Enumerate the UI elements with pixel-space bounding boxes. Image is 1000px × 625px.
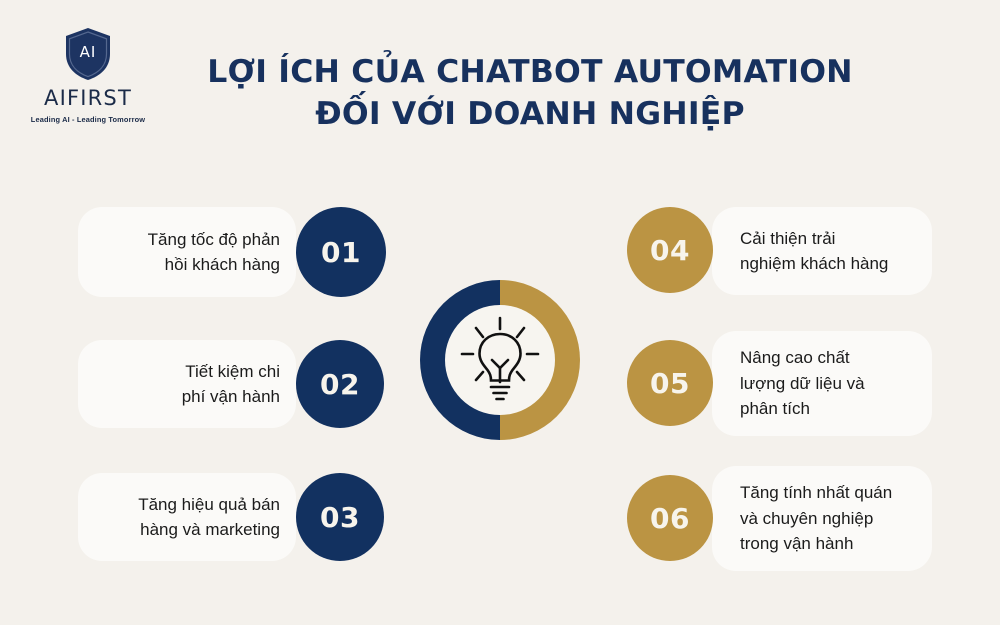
benefit-line: Nâng cao chất [740,345,932,371]
benefit-card-02[interactable]: Tiết kiệm chi phí vận hành [78,340,296,428]
brand-name: AIFIRST [44,86,132,110]
svg-text:AI: AI [80,43,97,61]
benefit-card-05[interactable]: Nâng cao chất lượng dữ liệu và phân tích [712,331,932,436]
brand-tagline: Leading AI - Leading Tomorrow [31,115,145,124]
benefit-line: Tiết kiệm chi [78,359,280,385]
benefit-line: và chuyên nghiệp [740,506,932,532]
benefit-card-01[interactable]: Tăng tốc độ phản hồi khách hàng [78,207,296,297]
benefit-line: phân tích [740,396,932,422]
title-line-2: ĐỐI VỚI DOANH NGHIỆP [185,94,875,136]
benefit-card-03[interactable]: Tăng hiệu quả bán hàng và marketing [78,473,296,561]
benefit-badge-01[interactable]: 01 [296,207,386,297]
benefit-badge-02[interactable]: 02 [296,340,384,428]
benefit-line: trong vận hành [740,531,932,557]
benefit-badge-05[interactable]: 05 [627,340,713,426]
benefit-line: nghiệm khách hàng [740,251,932,277]
page-title: LỢI ÍCH CỦA CHATBOT AUTOMATION ĐỐI VỚI D… [185,52,875,136]
title-line-1: LỢI ÍCH CỦA CHATBOT AUTOMATION [185,52,875,94]
benefit-line: hàng và marketing [78,517,280,543]
benefit-card-01-text: Tăng tốc độ phản hồi khách hàng [78,227,296,278]
benefit-line: Tăng tốc độ phản [78,227,280,253]
benefit-line: Tăng hiệu quả bán [78,492,280,518]
shield-ai-icon: AI [62,26,114,82]
benefit-card-03-text: Tăng hiệu quả bán hàng và marketing [78,492,296,543]
center-graphic [420,280,580,440]
benefit-card-06-text: Tăng tính nhất quán và chuyên nghiệp tro… [712,480,932,557]
benefit-line: phí vận hành [78,384,280,410]
benefit-card-05-text: Nâng cao chất lượng dữ liệu và phân tích [712,345,932,422]
benefit-card-06[interactable]: Tăng tính nhất quán và chuyên nghiệp tro… [712,466,932,571]
benefit-line: Cải thiện trải [740,226,932,252]
benefit-card-02-text: Tiết kiệm chi phí vận hành [78,359,296,410]
benefit-card-04[interactable]: Cải thiện trải nghiệm khách hàng [712,207,932,295]
benefit-line: hồi khách hàng [78,252,280,278]
benefit-badge-06[interactable]: 06 [627,475,713,561]
benefit-line: lượng dữ liệu và [740,371,932,397]
benefit-badge-04[interactable]: 04 [627,207,713,293]
benefit-badge-03[interactable]: 03 [296,473,384,561]
brand-logo: AI AIFIRST Leading AI - Leading Tomorrow [22,26,154,136]
lightbulb-icon [458,316,542,404]
benefit-line: Tăng tính nhất quán [740,480,932,506]
benefit-card-04-text: Cải thiện trải nghiệm khách hàng [712,226,932,277]
